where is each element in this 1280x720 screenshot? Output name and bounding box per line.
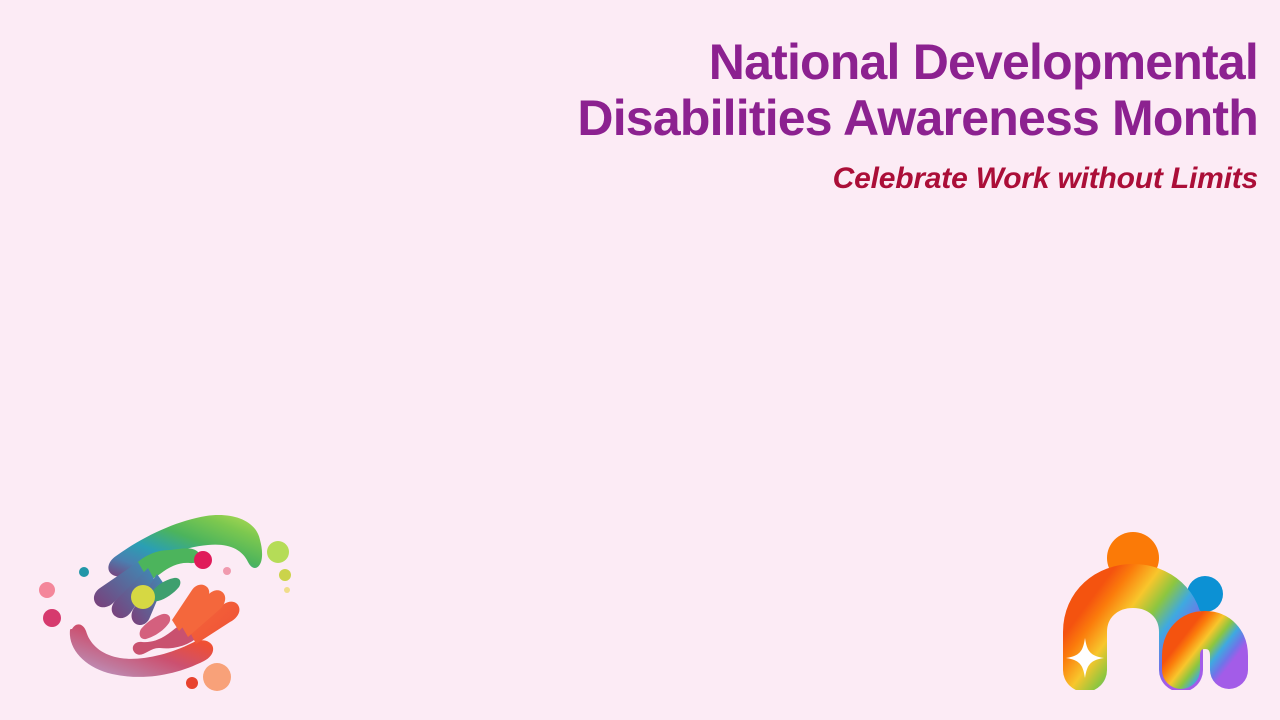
dot-yellow-green-dot xyxy=(131,585,155,609)
dot-peach-dot xyxy=(203,663,231,691)
figures-logo xyxy=(1052,524,1268,690)
two-hands-logo xyxy=(24,492,304,702)
dot-tiny-yellow-dot xyxy=(284,587,290,593)
dot-olive-dot xyxy=(279,569,291,581)
dot-magenta-dot xyxy=(43,609,61,627)
page-title-line-2: Disabilities Awareness Month xyxy=(398,90,1258,146)
page-subtitle: Celebrate Work without Limits xyxy=(398,162,1258,196)
header-text-block: National Developmental Disabilities Awar… xyxy=(398,34,1258,196)
dot-teal-dot xyxy=(79,567,89,577)
page-title-line-1: National Developmental xyxy=(398,34,1258,90)
dot-light-green-dot xyxy=(267,541,289,563)
dot-pink-dot xyxy=(39,582,55,598)
dot-small-red-dot xyxy=(186,677,198,689)
dot-crimson-dot xyxy=(194,551,212,569)
dot-tiny-pink-dot xyxy=(223,567,231,575)
